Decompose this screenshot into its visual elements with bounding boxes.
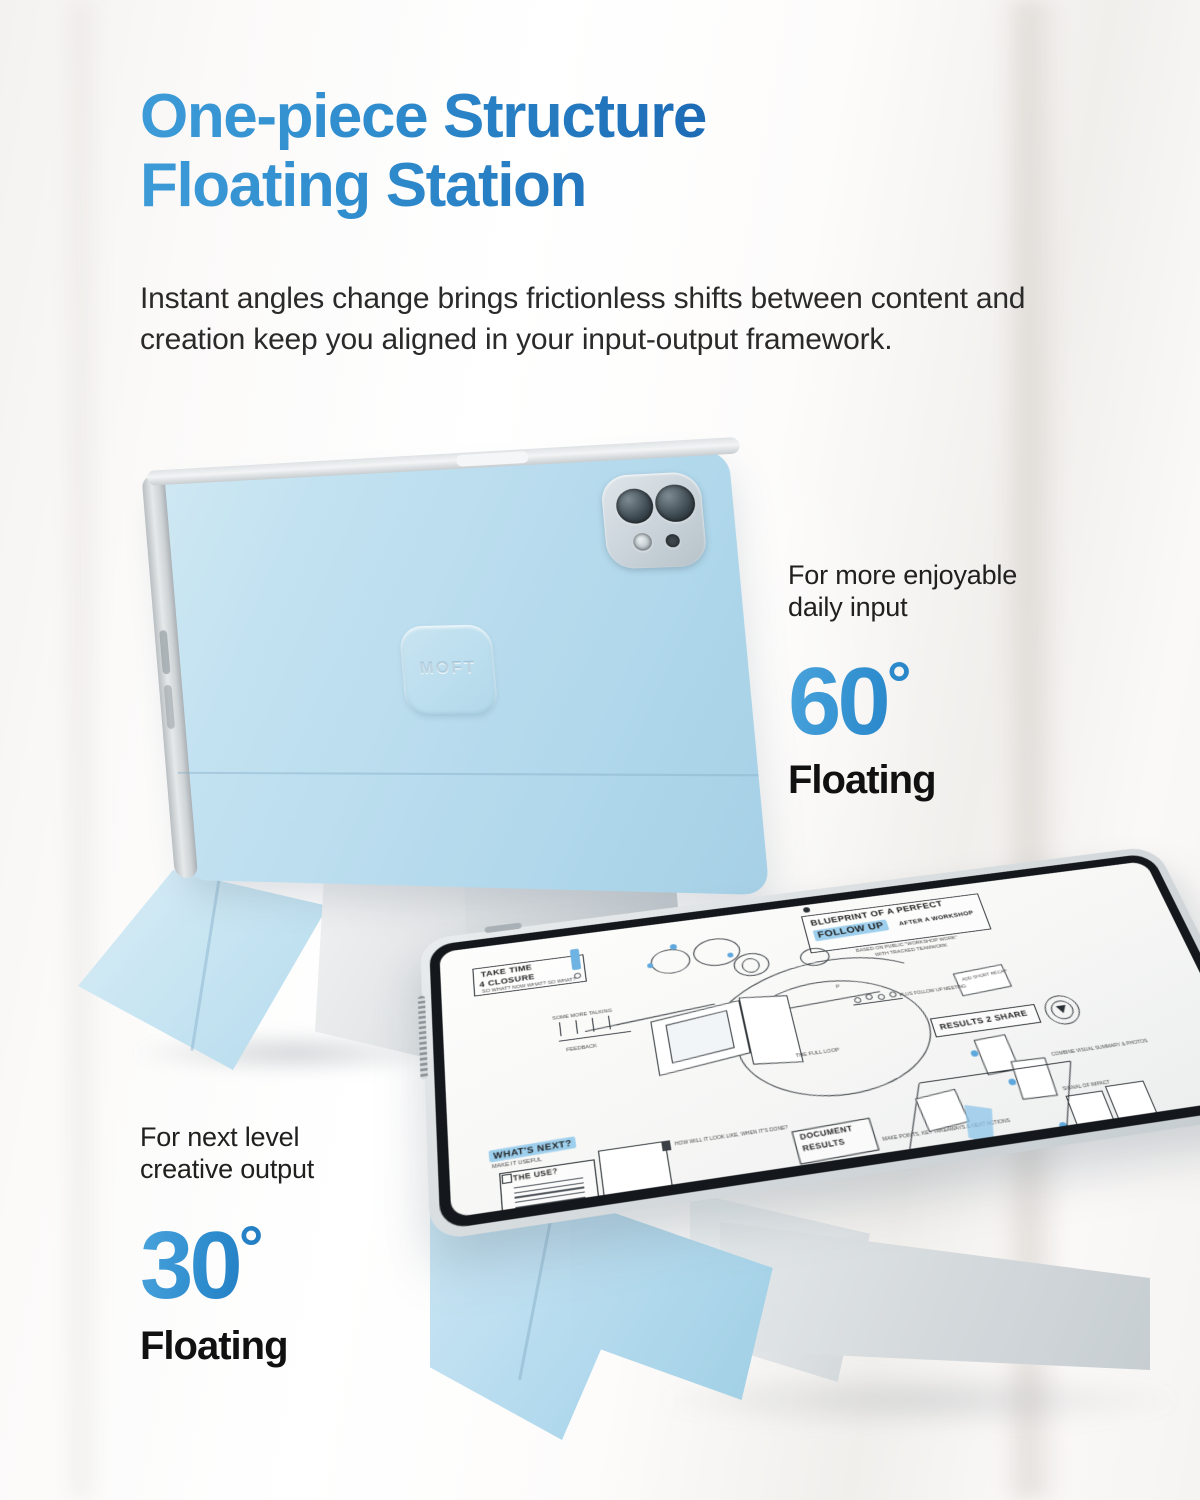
callout-30-caption: For next level creative output [140, 1122, 314, 1186]
camera-lens-ultrawide-icon [654, 484, 697, 523]
moft-logo-mark: MOFT [402, 658, 496, 678]
sketch-card-r4 [1105, 1081, 1158, 1120]
sketch-play-circle [1044, 1147, 1070, 1168]
sketch-paper-1 [885, 1146, 949, 1200]
callout-60-caption-line2: daily input [788, 592, 907, 622]
headline-line-1: One-piece Structure [140, 82, 706, 151]
tablet-case-30-degree: TAKE TIME 4 CLOSURE SO WHAT? NOW WHAT? S… [420, 940, 1200, 1500]
camera-lidar-icon [665, 534, 680, 548]
callout-30-number: 30 [140, 1212, 239, 1319]
front-camera-icon [803, 907, 811, 913]
tablet-back-panel: MOFT [153, 450, 769, 895]
callout-60-mode: Floating [788, 758, 1017, 803]
sketch-dot-blue-7 [1060, 1169, 1070, 1177]
camera-flash-icon [633, 533, 653, 551]
sketch-sticky-blue-1 [570, 949, 581, 971]
callout-60-value: 60° [788, 654, 1017, 750]
page-subheadline: Instant angles change brings frictionles… [140, 278, 1070, 361]
sketch-play-icon [1052, 1152, 1062, 1161]
callout-30-degree: For next level creative output 30° Float… [140, 1122, 314, 1369]
callout-60-caption-line1: For more enjoyable [788, 560, 1017, 590]
page-headline: One-piece Structure Floating Station [140, 82, 1040, 221]
callout-30-caption-line1: For next level [140, 1122, 299, 1152]
sketch-checkbox-icon [501, 1174, 512, 1185]
sketch-pen-icon-1 [661, 1140, 671, 1151]
callout-30-mode: Floating [140, 1324, 314, 1369]
callout-60-caption: For more enjoyable daily input [788, 560, 1017, 624]
sketch-note-who-will: WHO WILL DO WHAT? [628, 1213, 694, 1218]
sketch-note-left-2: FEEDBACK [566, 1044, 597, 1054]
sketch-card-r3 [1065, 1090, 1115, 1127]
headline-line-2: Floating Station [140, 151, 1040, 220]
callout-60-number: 60 [788, 648, 887, 755]
callout-30-value: 30° [140, 1218, 314, 1314]
brand-logo-tab: MOFT [399, 624, 499, 716]
degree-symbol-icon: ° [239, 1214, 264, 1283]
sketch-note-how-will: HOW WILL IT LOOK LIKE, WHEN IT'S DONE? [674, 1125, 788, 1147]
sketch-note-send-via: SEND VIA FOLLOW UP MAIL [1040, 1177, 1114, 1194]
camera-module [600, 471, 708, 569]
sketch-note-combine: COMBINE VISUAL SUMMARY & PHOTOS [1051, 1039, 1149, 1058]
sketch-bubble-1 [649, 947, 693, 976]
sketch-note-people: P [836, 984, 841, 989]
camera-lens-wide-icon [615, 488, 655, 524]
degree-symbol-icon: ° [887, 650, 912, 719]
callout-60-degree: For more enjoyable daily input 60° Float… [788, 560, 1017, 803]
callout-30-caption-line2: creative output [140, 1154, 314, 1184]
